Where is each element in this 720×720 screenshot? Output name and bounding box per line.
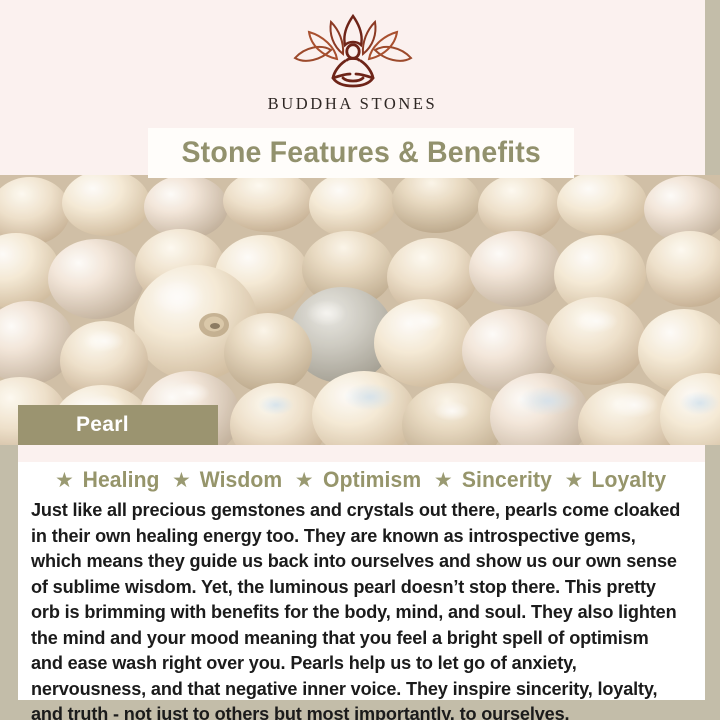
stone-name-bar: Pearl (18, 405, 218, 445)
star-icon: ★ (55, 470, 74, 491)
keyword-sincerity: ★ Sincerity (423, 467, 554, 493)
star-icon: ★ (295, 470, 314, 491)
page-title: Stone Features & Benefits (181, 136, 541, 170)
keyword-label: Sincerity (462, 467, 552, 493)
keyword-label: Wisdom (199, 467, 282, 493)
keyword-loyalty: ★ Loyalty (554, 467, 669, 493)
keyword-label: Loyalty (592, 467, 667, 493)
keyword-wisdom: ★ Wisdom (161, 467, 284, 493)
brand-logo: BUDDHA STONES (0, 14, 705, 114)
stone-description: Just like all precious gemstones and cry… (31, 497, 685, 720)
content-panel: ★ Healing ★ Wisdom ★ Optimism ★ Sincerit… (18, 445, 705, 700)
star-icon: ★ (434, 470, 453, 491)
brand-name: BUDDHA STONES (268, 94, 438, 114)
keyword-label: Optimism (323, 467, 421, 493)
star-icon: ★ (172, 470, 191, 491)
lotus-meditation-figure-icon (287, 14, 419, 88)
keyword-label: Healing (82, 467, 159, 493)
keyword-optimism: ★ Optimism (284, 467, 423, 493)
panel-top-tint (18, 445, 705, 462)
page-title-card: Stone Features & Benefits (148, 128, 574, 178)
keyword-healing: ★ Healing (55, 467, 161, 493)
stone-features-poster: BUDDHA STONES Stone Features & Benefits (0, 0, 720, 720)
keyword-list: ★ Healing ★ Wisdom ★ Optimism ★ Sincerit… (18, 467, 705, 493)
stone-name: Pearl (76, 413, 129, 437)
star-icon: ★ (565, 470, 584, 491)
